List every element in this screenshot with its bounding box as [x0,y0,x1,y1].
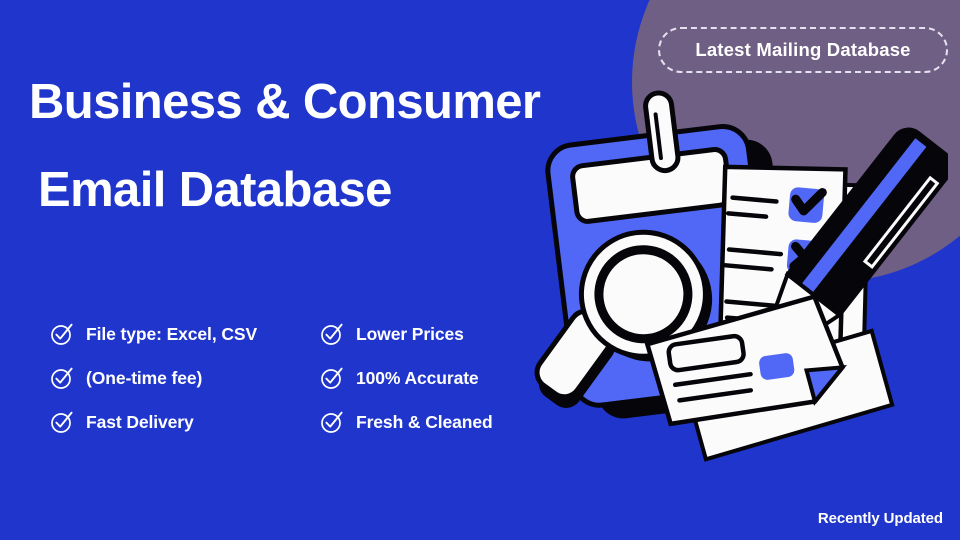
recently-updated-note: Recently Updated [818,510,943,527]
list-item: 100% Accurate [320,366,542,390]
list-item-label: Fast Delivery [86,412,194,433]
list-item: File type: Excel, CSV [50,322,272,346]
circle-check-icon [50,366,74,390]
list-item: Lower Prices [320,322,542,346]
list-item-label: File type: Excel, CSV [86,324,257,345]
circle-check-icon [320,410,344,434]
circle-check-icon [50,410,74,434]
promo-banner: Latest Mailing Database Business & Consu… [0,0,960,540]
list-item-label: (One-time fee) [86,368,202,389]
list-item-label: 100% Accurate [356,368,479,389]
list-item-label: Lower Prices [356,324,464,345]
circle-check-icon [50,322,74,346]
list-item: Fast Delivery [50,410,272,434]
list-item: Fresh & Cleaned [320,410,542,434]
list-item: (One-time fee) [50,366,272,390]
feature-column-left: File type: Excel, CSV (One-time fee) Fas… [50,322,272,434]
feature-column-right: Lower Prices 100% Accurate Fresh & Clean… [320,322,542,434]
feature-list: File type: Excel, CSV (One-time fee) Fas… [50,322,542,434]
list-item-label: Fresh & Cleaned [356,412,493,433]
latest-mailing-database-badge[interactable]: Latest Mailing Database [658,27,948,73]
circle-check-icon [320,322,344,346]
circle-check-icon [320,366,344,390]
clipboard-checklist-magnifier-pen-illustration [528,78,948,468]
checkbox-checked-1[interactable] [788,187,825,224]
secondary-document-chip [758,352,795,380]
badge-label: Latest Mailing Database [695,39,910,61]
